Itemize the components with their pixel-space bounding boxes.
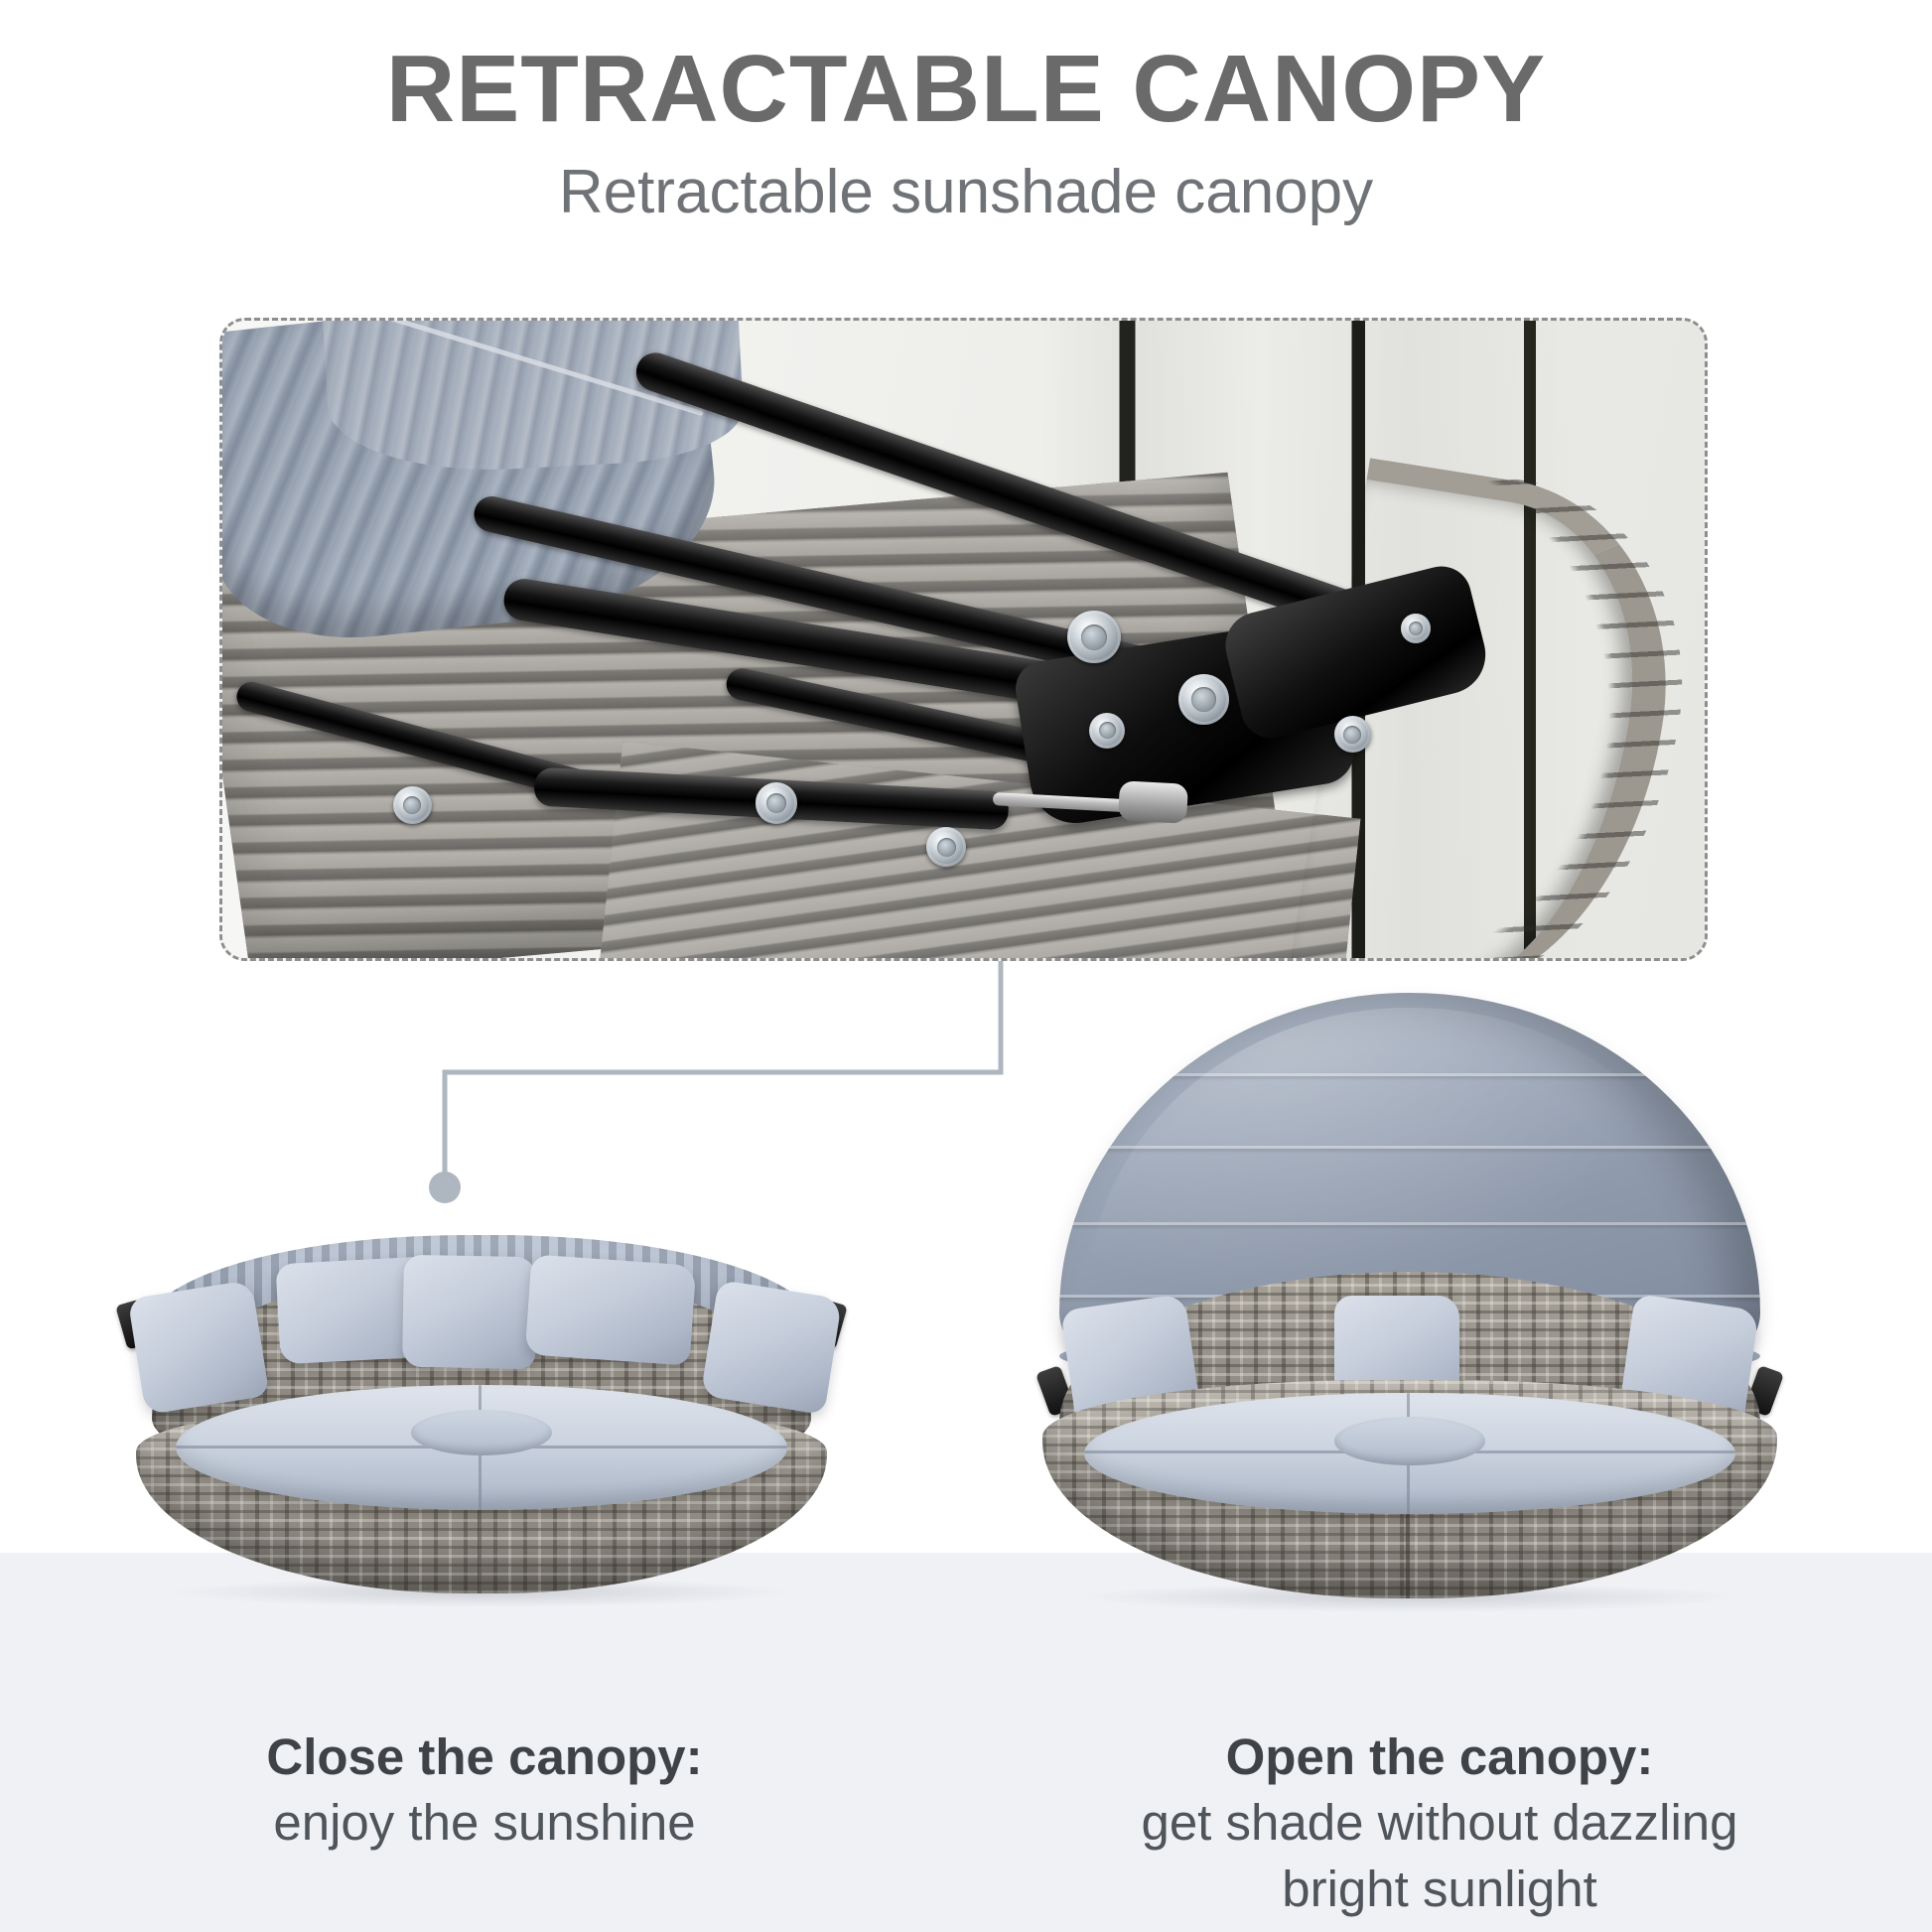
caption-open-canopy: Open the canopy: get shade without dazzl… <box>1013 1725 1866 1922</box>
center-table-cushion <box>1334 1417 1484 1465</box>
caption-body-line-1: get shade without dazzling <box>1013 1790 1866 1856</box>
page-title: RETRACTABLE CANOPY <box>0 40 1932 140</box>
caption-closed-canopy: Close the canopy: enjoy the sunshine <box>87 1725 882 1857</box>
caption-title: Open the canopy: <box>1013 1725 1866 1790</box>
gas-strut-end-fitting <box>1118 781 1188 824</box>
photo-content <box>222 321 1705 958</box>
cushion-pillow <box>402 1255 537 1370</box>
detail-photo-canopy-hinge-mechanism <box>222 321 1705 958</box>
hex-bolt-icon <box>393 786 432 825</box>
caption-title: Close the canopy: <box>87 1725 882 1790</box>
canopy-seam-rib <box>1059 1073 1760 1076</box>
hex-bolt-icon <box>1067 611 1121 663</box>
hex-bolt-icon <box>1178 674 1229 725</box>
cushion-pillow <box>128 1280 270 1415</box>
cushion-pillow <box>525 1254 697 1365</box>
hex-bolt-icon <box>756 782 797 823</box>
canopy-seam-rib <box>1059 1146 1760 1149</box>
hex-bolt-icon <box>1401 614 1431 643</box>
infographic-canvas: RETRACTABLE CANOPY Retractable sunshade … <box>0 0 1932 1932</box>
page-subtitle: Retractable sunshade canopy <box>0 159 1932 226</box>
cushion-pillow <box>701 1280 843 1415</box>
product-image-daybed-canopy-closed <box>89 1176 874 1593</box>
hex-bolt-icon <box>1334 716 1371 753</box>
hex-bolt-icon <box>1089 713 1125 749</box>
canopy-seam-rib <box>1059 1222 1760 1225</box>
caption-body-line-2: bright sunlight <box>1013 1857 1866 1922</box>
caption-body: enjoy the sunshine <box>87 1790 882 1856</box>
product-image-daybed-canopy-open <box>993 993 1827 1598</box>
connector-polyline <box>445 961 1001 1177</box>
